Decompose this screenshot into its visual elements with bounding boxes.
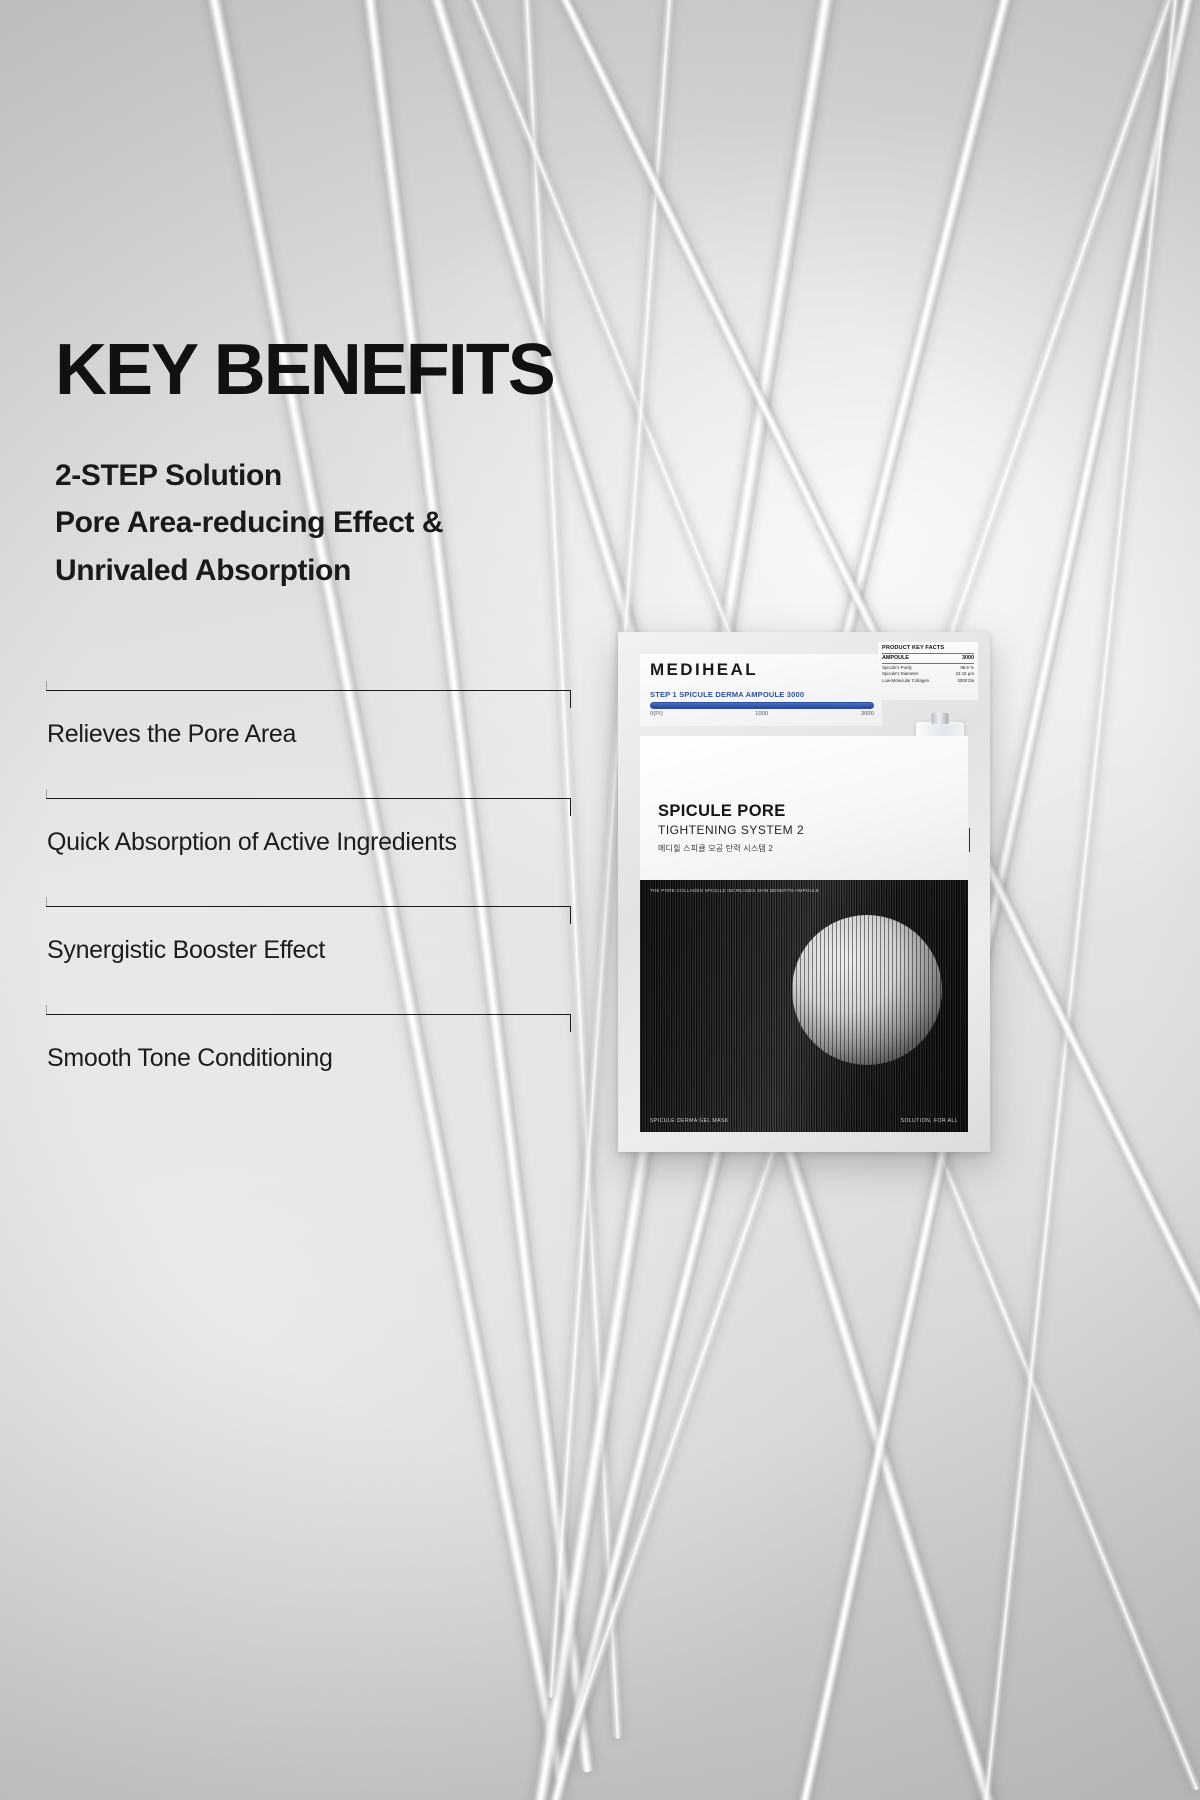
key-facts-label: Spicule's Diameter: [882, 671, 918, 676]
package-header-strip: MEDIHEAL STEP 1 SPICULE DERMA AMPOULE 30…: [640, 654, 882, 726]
list-item: Quick Absorption of Active Ingredients: [46, 798, 576, 906]
scale-tick-mid: 1000: [755, 711, 768, 717]
mask-type-label: SPICULE DERMA GEL MASK: [650, 1118, 729, 1124]
step-label: STEP 1 SPICULE DERMA AMPOULE 3000: [650, 690, 804, 699]
scale-tick-min: 0(PI): [650, 711, 663, 717]
divider: [46, 1014, 571, 1015]
divider: [46, 690, 571, 691]
benefit-list: Relieves the Pore Area Quick Absorption …: [46, 690, 576, 1122]
key-facts-main-value: 3000: [962, 655, 974, 661]
brand-tagline: SOLUTION, FOR ALL: [900, 1118, 958, 1124]
concentration-scale: 0(PI) 1000 3000: [650, 711, 874, 721]
list-item: Relieves the Pore Area: [46, 690, 576, 798]
key-facts-title: PRODUCT KEY FACTS: [882, 645, 974, 654]
product-title-korean: 메디힐 스피큘 모공 탄력 시스템 2: [658, 843, 773, 854]
benefit-label: Smooth Tone Conditioning: [47, 1044, 333, 1073]
product-key-facts-panel: PRODUCT KEY FACTS AMPOULE 3000 Spicule's…: [878, 642, 978, 700]
list-item: Synergistic Booster Effect: [46, 906, 576, 1014]
subheading-line-3: Unrivaled Absorption: [55, 547, 443, 594]
key-facts-value: 23.15 µm: [956, 671, 974, 676]
product-package-photo: MEDIHEAL STEP 1 SPICULE DERMA AMPOULE 30…: [618, 632, 990, 1152]
sphere-stripes-overlay: [792, 915, 942, 1065]
page-title: KEY BENEFITS: [55, 334, 554, 406]
list-item: Smooth Tone Conditioning: [46, 1014, 576, 1122]
artwork-caption: THE PORE COLLAGEN SPICULE INCREASES SKIN…: [650, 888, 819, 895]
product-title: SPICULE PORE: [658, 802, 786, 821]
package-body-panel: SPICULE PORE TIGHTENING SYSTEM 2 메디힐 스피큘…: [640, 736, 968, 884]
benefit-label: Quick Absorption of Active Ingredients: [47, 828, 457, 857]
key-facts-main-label: AMPOULE: [882, 655, 909, 661]
bottle-cap-icon: [932, 713, 949, 724]
product-subtitle: TIGHTENING SYSTEM 2: [658, 823, 804, 837]
key-facts-main-row: AMPOULE 3000: [882, 654, 974, 664]
concentration-bar: [650, 702, 874, 709]
package-mask-artwork: THE PORE COLLAGEN SPICULE INCREASES SKIN…: [640, 880, 968, 1132]
key-facts-label: Low-Molecular Collagen: [882, 678, 929, 683]
divider: [46, 798, 571, 799]
brand-logo: MEDIHEAL: [650, 660, 758, 680]
key-facts-row: Low-Molecular Collagen 3000 Da: [882, 676, 974, 682]
benefit-label: Relieves the Pore Area: [47, 720, 296, 749]
key-facts-value: 99.9 %: [960, 665, 974, 670]
benefit-label: Synergistic Booster Effect: [47, 936, 325, 965]
key-facts-value: 3000 Da: [957, 678, 974, 683]
divider: [46, 906, 571, 907]
key-facts-label: Spicule's Purity: [882, 665, 912, 670]
subheading-line-1: 2-STEP Solution: [55, 452, 443, 499]
section-subheading: 2-STEP Solution Pore Area-reducing Effec…: [55, 452, 443, 594]
scale-tick-max: 3000: [861, 711, 874, 717]
subheading-line-2: Pore Area-reducing Effect &: [55, 499, 443, 546]
